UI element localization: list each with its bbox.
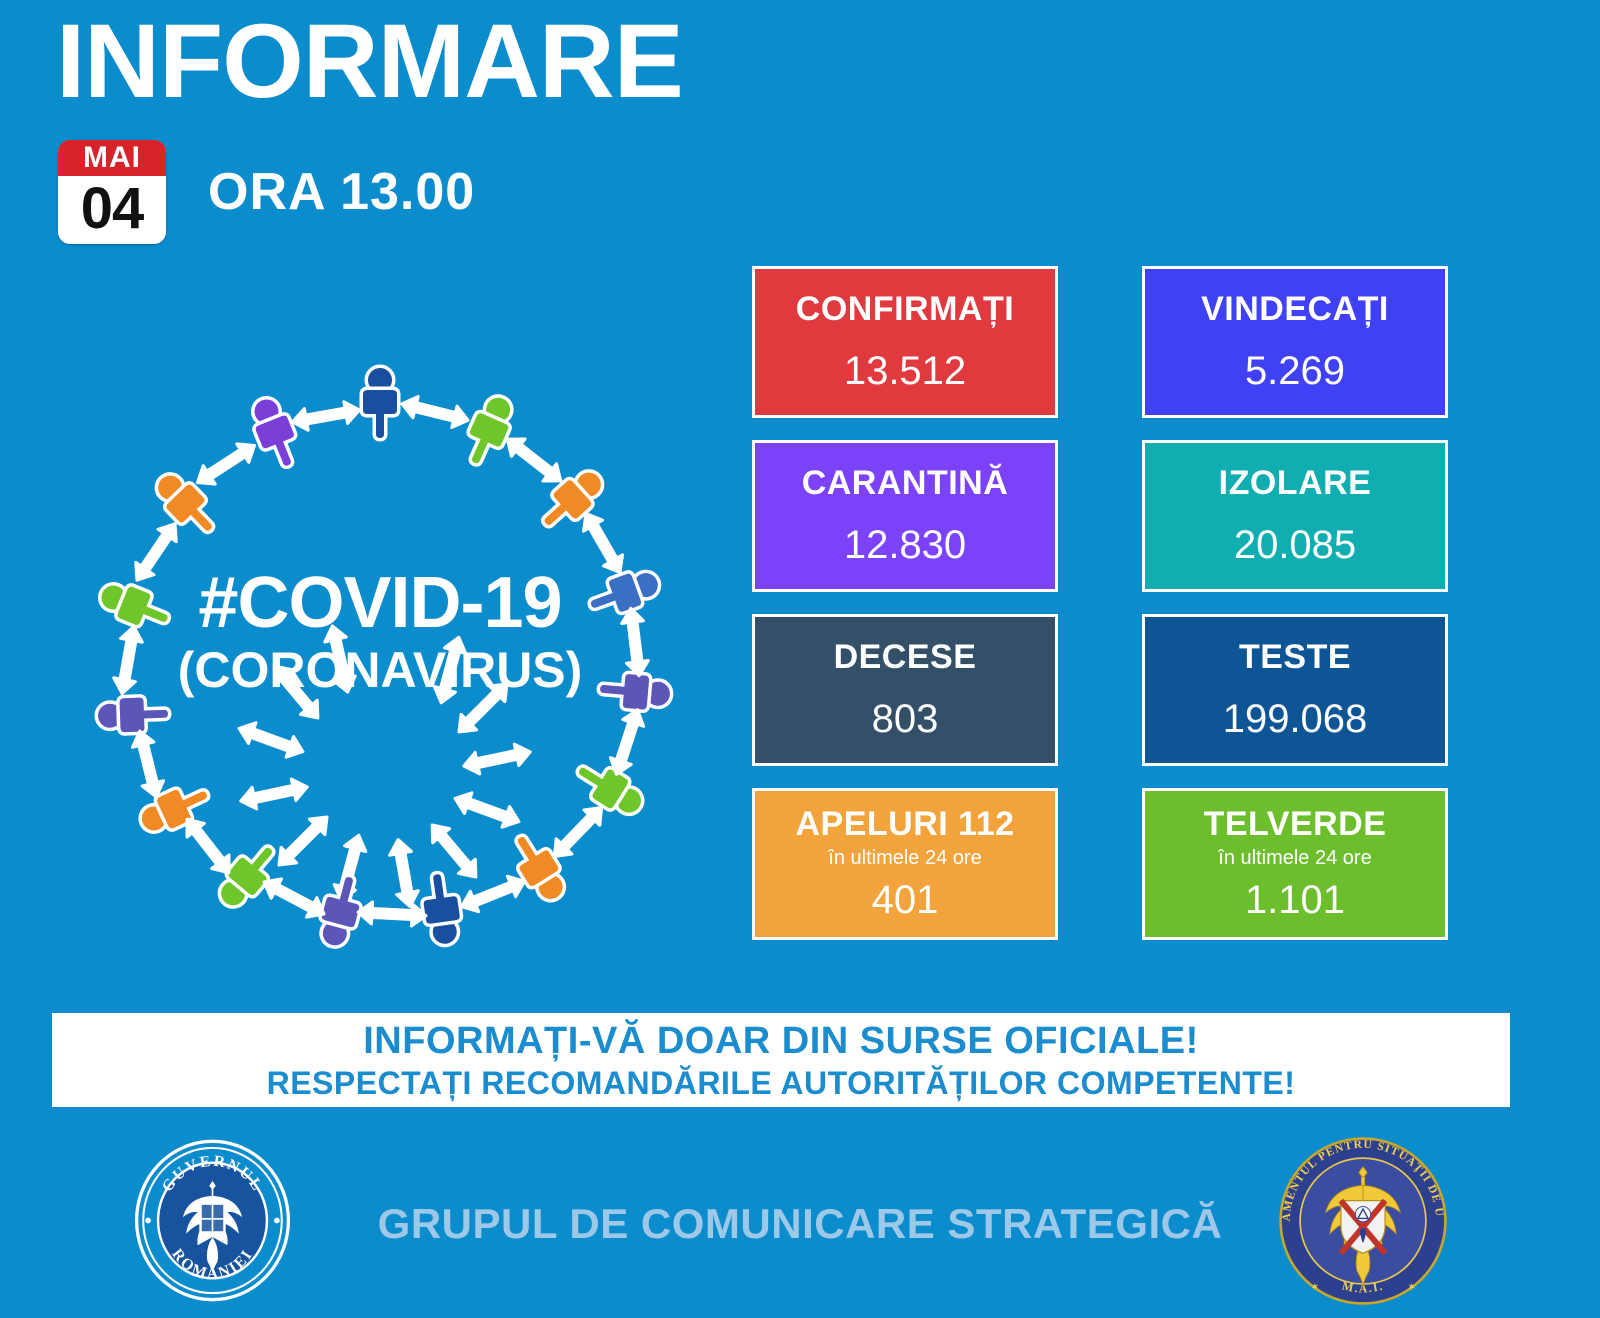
stat-value: 199.068 <box>1223 695 1368 743</box>
infographic-page: INFORMARE MAI 04 ORA 13.00 <box>0 0 1600 1318</box>
stat-sublabel: în ultimele 24 ore <box>828 846 981 870</box>
stat-sublabel: în ultimele 24 ore <box>1218 846 1371 870</box>
guvernul-romaniei-seal: GUVERNUL ROMÂNIEI <box>130 1138 295 1303</box>
stat-card-decese: DECESE803 <box>752 614 1058 766</box>
stat-label: IZOLARE <box>1219 463 1372 503</box>
banner-line-2: RESPECTAȚI RECOMANDĂRILE AUTORITĂȚILOR C… <box>267 1063 1296 1103</box>
stat-value: 401 <box>872 876 939 924</box>
dsu-emblem: DEPARTAMENTUL PENTRU SITUAȚII DE URGENȚĂ… <box>1278 1136 1448 1306</box>
stats-grid: CONFIRMAȚI13.512VINDECAȚI5.269CARANTINĂ1… <box>752 266 1464 940</box>
stat-card-vindecati: VINDECAȚI5.269 <box>1142 266 1448 418</box>
stat-card-carantina: CARANTINĂ12.830 <box>752 440 1058 592</box>
stat-card-izolare: IZOLARE20.085 <box>1142 440 1448 592</box>
stat-label: CONFIRMAȚI <box>796 289 1014 329</box>
stat-label: TESTE <box>1239 637 1351 677</box>
page-title: INFORMARE <box>56 2 683 123</box>
svg-text:✶: ✶ <box>1407 1282 1416 1294</box>
svg-text:✶: ✶ <box>1310 1282 1319 1294</box>
stat-card-apeluri-112: APELURI 112în ultimele 24 ore401 <box>752 788 1058 940</box>
footer: GUVERNUL ROMÂNIEI GRUP <box>0 1118 1600 1318</box>
stat-label: CARANTINĂ <box>802 463 1009 503</box>
stat-value: 20.085 <box>1234 521 1356 569</box>
date-time-row: MAI 04 ORA 13.00 <box>58 140 475 244</box>
stat-card-teste: TESTE199.068 <box>1142 614 1448 766</box>
calendar-month: MAI <box>58 140 166 176</box>
stat-value: 12.830 <box>844 521 966 569</box>
banner-line-1: INFORMAȚI-VĂ DOAR DIN SURSE OFICIALE! <box>363 1019 1198 1063</box>
stat-value: 13.512 <box>844 347 966 395</box>
stat-value: 1.101 <box>1245 876 1345 924</box>
stat-label: DECESE <box>834 637 977 677</box>
people-figures <box>96 368 671 949</box>
report-hour: ORA 13.00 <box>208 162 475 222</box>
stat-value: 5.269 <box>1245 347 1345 395</box>
people-circle-diagram: #COVID-19 (CORONAVIRUS) <box>60 320 700 960</box>
stat-label: VINDECAȚI <box>1201 289 1389 329</box>
stat-card-telverde: TELVERDEîn ultimele 24 ore1.101 <box>1142 788 1448 940</box>
stat-label: TELVERDE <box>1204 804 1387 844</box>
official-sources-banner: INFORMAȚI-VĂ DOAR DIN SURSE OFICIALE! RE… <box>52 1013 1510 1107</box>
calendar-icon: MAI 04 <box>58 140 166 244</box>
calendar-day: 04 <box>58 176 166 244</box>
stat-card-confirmati: CONFIRMAȚI13.512 <box>752 266 1058 418</box>
stat-label: APELURI 112 <box>795 804 1014 844</box>
outer-connector-arrows <box>111 393 650 927</box>
footer-label: GRUPUL DE COMUNICARE STRATEGICĂ <box>340 1200 1260 1248</box>
connector-arrows <box>235 623 532 908</box>
stat-value: 803 <box>872 695 939 743</box>
people-circle-svg <box>60 320 700 960</box>
